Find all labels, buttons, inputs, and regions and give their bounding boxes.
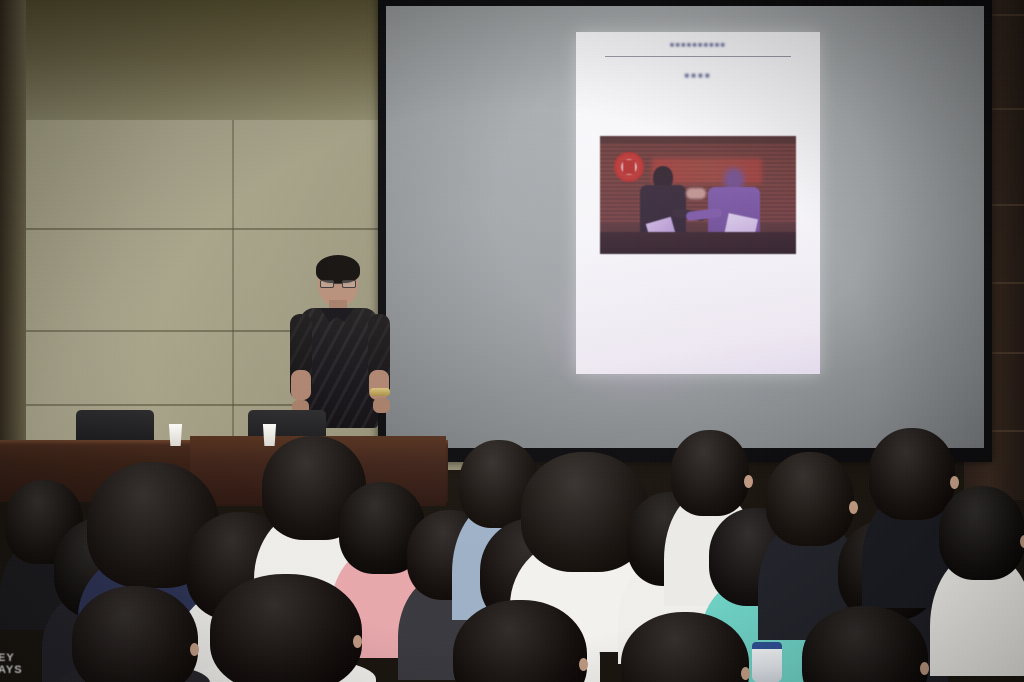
photo-handshake [686,188,706,199]
audience-member-head [72,586,198,682]
presenter-hair [316,255,360,283]
shirt-graphic-text: EY AYS [0,652,23,676]
audience [0,400,1024,682]
audience-member-20 [440,600,600,682]
audience-member-head [671,430,749,516]
audience-member-22 [790,606,940,682]
presenter-wristwatch-icon [370,388,390,396]
slide-subtitle: ■■■■ [576,70,820,81]
slide-subtitle-text: ■■■■ [684,71,711,80]
audience-member-ear [353,635,362,648]
slide-ceremony-photo [600,136,796,254]
audience-member-ear [579,658,588,671]
audience-member-19 [60,586,210,682]
audience-member-ear [190,643,199,656]
audience-member-18 [196,574,376,682]
presenter-glasses-icon [320,280,356,288]
presenter-left-forearm [291,370,311,400]
audience-member-21 [610,612,760,682]
audience-member-ear [741,667,750,680]
audience-member-17 [930,486,1024,676]
slide-divider [605,56,790,57]
audience-member-ear [744,475,753,488]
projection-screen-surface: ■■■■■■■■■■ ■■■■ [386,6,984,448]
projected-slide: ■■■■■■■■■■ ■■■■ [576,32,820,374]
audience-member-head [210,574,362,682]
audience-member-ear [849,501,858,514]
slide-title: ■■■■■■■■■■ [620,41,776,50]
lecture-hall-scene: ■■■■■■■■■■ ■■■■ [0,0,1024,682]
projection-screen: ■■■■■■■■■■ ■■■■ [378,0,992,462]
water-bottle [752,642,782,682]
audience-member-ear [920,662,929,675]
audience-member-ear [1020,535,1024,548]
audience-member-head [621,612,749,682]
audience-member-head [453,600,587,682]
photo-stage-table [600,232,796,254]
slide-title-text: ■■■■■■■■■■ [670,42,726,49]
audience-member-head [939,486,1024,580]
audience-member-head [802,606,928,682]
